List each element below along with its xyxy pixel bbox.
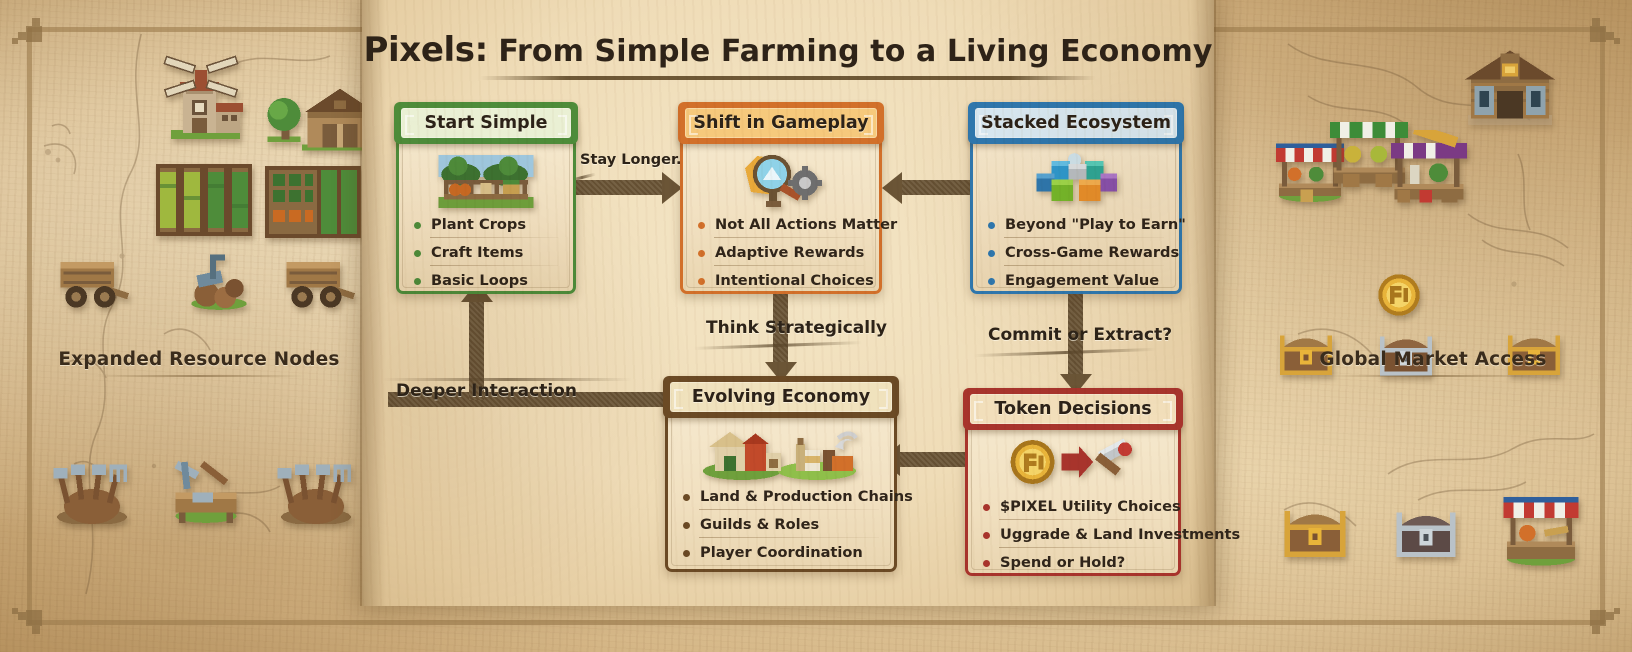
page-title-lead: Pixels: — [364, 30, 488, 70]
arrow-left-icon — [882, 172, 902, 204]
notch-left-icon — [974, 401, 983, 421]
frame-bottom-line — [28, 620, 1604, 625]
card-title: Evolving Economy — [692, 387, 870, 407]
list-item: Guilds & Roles — [683, 516, 883, 538]
notch-right-icon — [879, 389, 888, 409]
page-title: Pixels: From Simple Farming to a Living … — [362, 30, 1214, 70]
list-item: Beyond "Play to Earn" — [988, 216, 1168, 238]
notch-right-icon — [864, 115, 873, 135]
notch-left-icon — [674, 389, 683, 409]
frame-right-line — [1600, 28, 1605, 624]
page-title-rest: From Simple Farming to a Living Economy — [498, 34, 1212, 69]
list-item: $PIXEL Utility Choices — [983, 498, 1167, 520]
crop-field-green-sprite — [154, 164, 254, 236]
list-item: Uggrade & Land Investments — [983, 526, 1167, 548]
list-item: Craft Items — [414, 244, 562, 266]
card-header: Token Decisions — [963, 388, 1183, 430]
card-header-plate: Shift in Gameplay — [685, 108, 877, 138]
coin-to-hammer-icon — [965, 436, 1181, 488]
card-header-plate: Token Decisions — [970, 394, 1176, 424]
list-item: Basic Loops — [414, 272, 562, 294]
list-item: Not All Actions Matter — [698, 216, 868, 238]
notch-left-icon — [689, 115, 698, 135]
right-panel-label: Global Market Access — [1268, 349, 1598, 370]
card-title: Token Decisions — [994, 399, 1151, 419]
wooden-cart-sprite — [54, 252, 130, 310]
card-header-plate: Evolving Economy — [670, 382, 892, 412]
card-title: Stacked Ecosystem — [981, 113, 1171, 133]
card-bullet-list: Land & Production Chains Guilds & Roles … — [683, 488, 883, 572]
connector-label-stay-longer: Stay Longer... — [580, 152, 693, 168]
stacked-cubes-icon — [970, 152, 1182, 210]
magnifier-gear-icon — [680, 150, 882, 210]
card-header-plate: Stacked Ecosystem — [975, 108, 1177, 138]
list-item: Cross-Game Rewards — [988, 244, 1168, 266]
list-item: Player Coordination — [683, 544, 883, 566]
market-stall-purple-sprite — [1388, 130, 1470, 206]
card-header: Stacked Ecosystem — [968, 102, 1184, 144]
windmill-sprite — [156, 52, 252, 148]
card-bullet-list: Not All Actions Matter Adaptive Rewards … — [698, 216, 868, 300]
tool-bundle-sprite — [50, 454, 134, 524]
gold-chest-sprite — [1278, 494, 1352, 562]
barn-sprite — [296, 82, 364, 154]
notch-left-icon — [405, 115, 414, 135]
card-evolving-economy[interactable]: Evolving Economy — [665, 392, 897, 572]
bank-building-sprite — [1460, 44, 1560, 128]
list-item: Plant Crops — [414, 216, 562, 238]
notch-right-icon — [558, 115, 567, 135]
card-header: Evolving Economy — [663, 376, 899, 418]
card-bullet-list: Plant Crops Craft Items Basic Loops — [414, 216, 562, 300]
card-title: Start Simple — [424, 113, 547, 133]
left-map-panel: Expanded Resource Nodes — [34, 34, 364, 618]
list-item: Spend or Hold? — [983, 554, 1167, 576]
list-item: Land & Production Chains — [683, 488, 883, 510]
list-item: Intentional Choices — [698, 272, 868, 294]
sheet-right-edge — [1190, 0, 1216, 606]
crop-field-orange-sprite — [262, 166, 364, 238]
card-start-simple[interactable]: Start Simple — [396, 118, 576, 294]
workbench-pickaxe-sprite — [162, 454, 250, 524]
infographic-canvas: Expanded Resource Nodes — [0, 0, 1632, 652]
notch-right-icon — [1163, 401, 1172, 421]
card-token-decisions[interactable]: Token Decisions $PIX — [965, 404, 1181, 576]
wooden-cart-sprite — [280, 252, 356, 310]
left-panel-label: Expanded Resource Nodes — [34, 349, 364, 370]
list-item: Engagement Value — [988, 272, 1168, 294]
card-bullet-list: $PIXEL Utility Choices Uggrade & Land In… — [983, 498, 1167, 582]
connector-label-commit-or-extract: Commit or Extract? — [988, 325, 1172, 345]
farm-stall-icon — [396, 152, 576, 208]
card-bullet-list: Beyond "Play to Earn" Cross-Game Rewards… — [988, 216, 1168, 300]
notch-left-icon — [979, 115, 988, 135]
sheet-left-edge — [360, 0, 386, 606]
card-shift-in-gameplay[interactable]: Shift in Gameplay — [680, 118, 882, 294]
notch-right-icon — [1164, 115, 1173, 135]
ore-node-sprite — [182, 248, 256, 310]
frame-left-line — [27, 28, 32, 624]
list-item: Adaptive Rewards — [698, 244, 868, 266]
market-stall-red-sprite — [1500, 490, 1582, 566]
connector-start-to-shift — [574, 180, 664, 195]
central-parchment-sheet: Pixels: From Simple Farming to a Living … — [362, 0, 1214, 606]
connector-label-deeper-interaction: Deeper Interaction — [396, 381, 577, 401]
title-underline — [480, 76, 1096, 80]
silver-chest-sprite — [1390, 496, 1462, 562]
label-swoosh — [974, 348, 1156, 357]
gold-coin-sprite — [1376, 272, 1422, 318]
card-header: Shift in Gameplay — [678, 102, 884, 144]
connector-label-think-strategically: Think Strategically — [706, 318, 887, 338]
card-stacked-ecosystem[interactable]: Stacked Ecosystem — [970, 118, 1182, 294]
card-title: Shift in Gameplay — [693, 113, 868, 133]
right-map-panel: Global Market Access — [1268, 34, 1598, 618]
village-production-icon — [665, 426, 897, 480]
tool-bundle-sprite — [274, 454, 358, 524]
card-header-plate: Start Simple — [401, 108, 571, 138]
card-header: Start Simple — [394, 102, 578, 144]
connector-token-to-evolving — [900, 452, 974, 467]
arrow-right-icon — [662, 172, 682, 204]
